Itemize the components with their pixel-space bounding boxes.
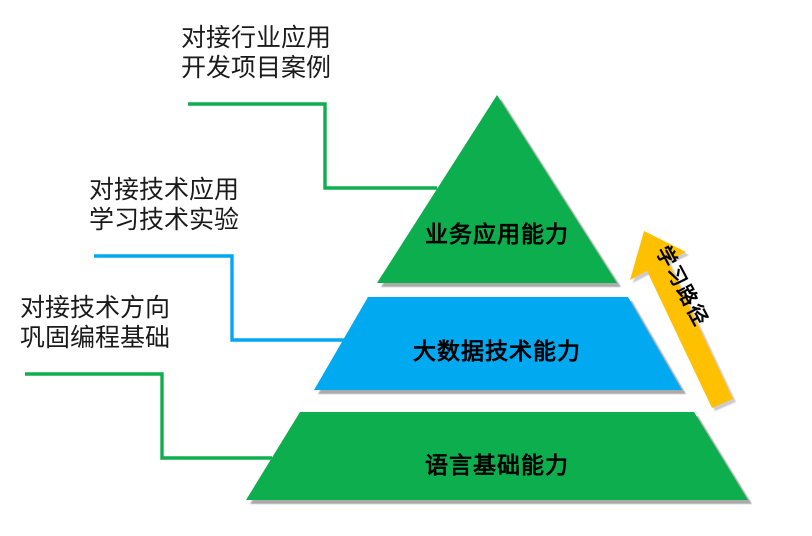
callout-bottom-line1: 对接技术方向 [20,294,170,322]
callout-top-text: 对接行业应用开发项目案例 [181,23,331,83]
callout-top-line2: 开发项目案例 [181,54,331,82]
pyramid-diagram: 对接行业应用开发项目案例 对接技术应用学习技术实验 对接技术方向巩固编程基础 业… [0,0,812,536]
pyramid-tier-top-label: 业务应用能力 [0,215,812,249]
callout-top-line1: 对接行业应用 [181,24,331,52]
pyramid-tier-middle-label: 大数据技术能力 [0,332,812,366]
pyramid-tier-bottom-label: 语言基础能力 [0,446,812,480]
callout-middle-line1: 对接技术应用 [89,176,239,204]
